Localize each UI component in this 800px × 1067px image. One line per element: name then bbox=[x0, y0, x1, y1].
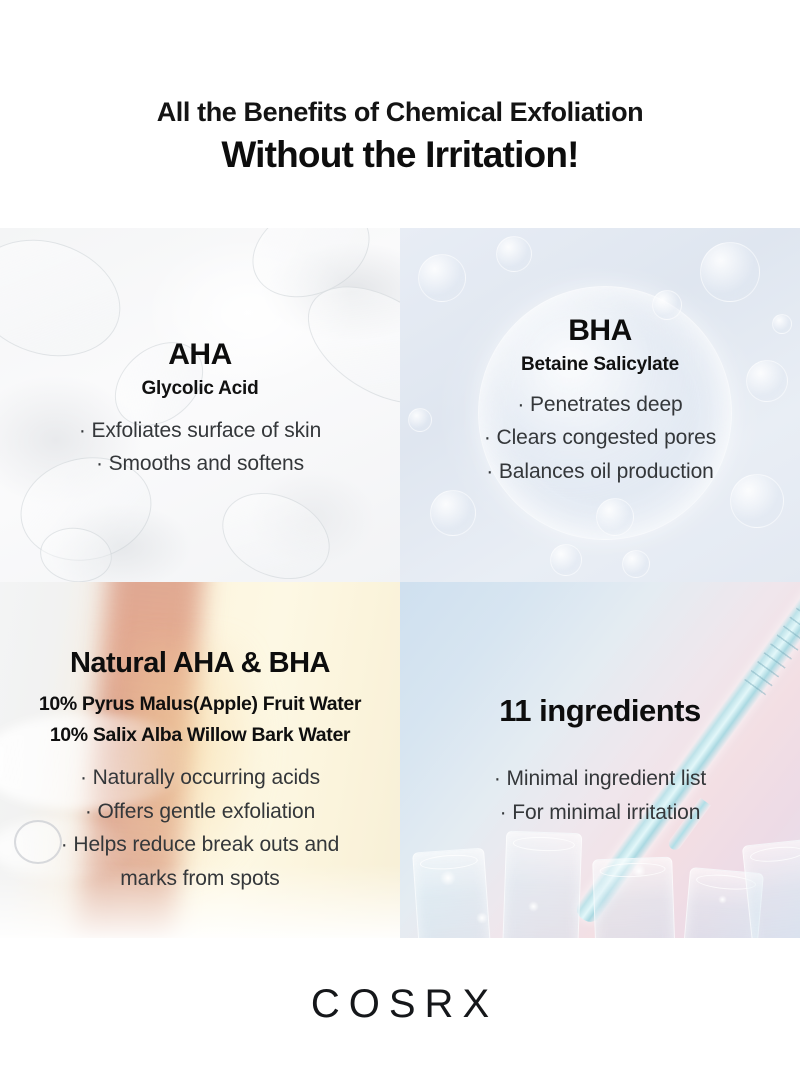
panel-ingredients-bullet-2: · For minimal irritation bbox=[410, 796, 790, 830]
panel-bha-bullet-2: · Clears congested pores bbox=[410, 421, 790, 455]
panel-bha-subtitle: Betaine Salicylate bbox=[410, 353, 790, 377]
panel-natural-ingredient-2: 10% Salix Alba Willow Bark Water bbox=[10, 720, 390, 752]
panel-natural-bullet-4: marks from spots bbox=[10, 862, 390, 896]
cosrx-logo: COSRX bbox=[302, 982, 498, 1027]
panel-bha-bullet-3: · Balances oil production bbox=[410, 455, 790, 489]
panel-aha-bullet-1: · Exfoliates surface of skin bbox=[10, 414, 390, 448]
panel-natural-ingredient-1: 10% Pyrus Malus(Apple) Fruit Water bbox=[10, 689, 390, 721]
panel-bha-bullet-1: · Penetrates deep bbox=[410, 388, 790, 422]
headline-block: All the Benefits of Chemical Exfoliation… bbox=[0, 0, 800, 176]
panel-natural-bullet-3: · Helps reduce break outs and bbox=[10, 828, 390, 862]
panel-natural-title: Natural AHA & BHA bbox=[10, 648, 390, 680]
panel-bha-title: BHA bbox=[410, 314, 790, 347]
panel-eleven-ingredients: 11 ingredients · Minimal ingredient list… bbox=[400, 582, 800, 938]
panel-ingredients-title: 11 ingredients bbox=[410, 694, 790, 728]
panel-aha-bullet-2: · Smooths and softens bbox=[10, 447, 390, 481]
panel-aha-title: AHA bbox=[10, 338, 390, 371]
benefits-grid: AHA Glycolic Acid · Exfoliates surface o… bbox=[0, 228, 800, 938]
panel-natural-bullet-1: · Naturally occurring acids bbox=[10, 761, 390, 795]
panel-aha-subtitle: Glycolic Acid bbox=[10, 377, 390, 401]
panel-natural-aha-bha: Natural AHA & BHA 10% Pyrus Malus(Apple)… bbox=[0, 582, 400, 938]
footer: COSRX bbox=[0, 938, 800, 1067]
panel-ingredients-bullet-1: · Minimal ingredient list bbox=[410, 762, 790, 796]
headline-line-2: Without the Irritation! bbox=[0, 134, 800, 175]
panel-aha: AHA Glycolic Acid · Exfoliates surface o… bbox=[0, 228, 400, 582]
panel-natural-bullet-2: · Offers gentle exfoliation bbox=[10, 795, 390, 829]
panel-bha: BHA Betaine Salicylate · Penetrates deep… bbox=[400, 228, 800, 582]
headline-line-1: All the Benefits of Chemical Exfoliation bbox=[0, 98, 800, 126]
